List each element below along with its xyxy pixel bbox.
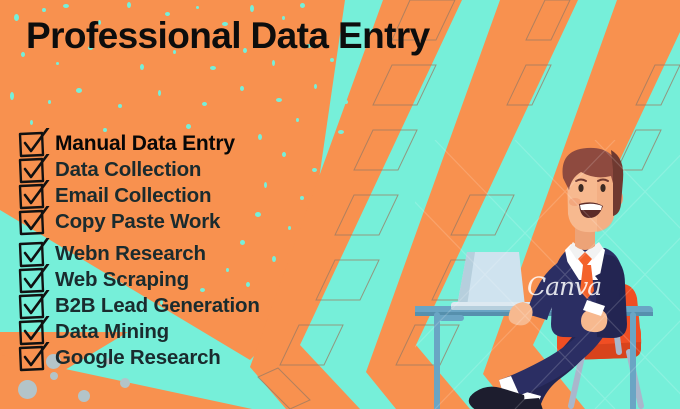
list-item: Google Research (16, 345, 416, 371)
checkbox-checked-icon (16, 345, 46, 371)
list-item-label: Data Mining (55, 320, 169, 344)
list-item-label: Manual Data Entry (55, 132, 235, 156)
list-item: Copy Paste Work (16, 209, 416, 235)
list-item-label: B2B Lead Generation (55, 294, 260, 318)
list-item-label: Webn Research (55, 242, 206, 266)
list-item-label: Google Research (55, 346, 221, 370)
gig-thumbnail-graphic: Professional Data Entry Manual Data Entr… (0, 0, 680, 409)
list-item-label: Web Scraping (55, 268, 189, 292)
list-item: Webn Research (16, 241, 416, 267)
list-item: B2B Lead Generation (16, 293, 416, 319)
list-item-label: Email Collection (55, 184, 211, 208)
list-item-label: Copy Paste Work (55, 210, 220, 234)
list-item-label: Data Collection (55, 158, 201, 182)
list-item: Web Scraping (16, 267, 416, 293)
list-item: Data Collection (16, 157, 416, 183)
businessman-at-desk-illustration (415, 140, 680, 409)
list-item: Email Collection (16, 183, 416, 209)
man-eye-left (578, 184, 583, 192)
man-eye-right (600, 184, 605, 192)
list-item: Data Mining (16, 319, 416, 345)
page-title: Professional Data Entry (26, 17, 430, 54)
services-checklist: Manual Data Entry Data Collection Email … (16, 131, 416, 371)
checkbox-checked-icon (16, 209, 46, 235)
list-item: Manual Data Entry (16, 131, 416, 157)
